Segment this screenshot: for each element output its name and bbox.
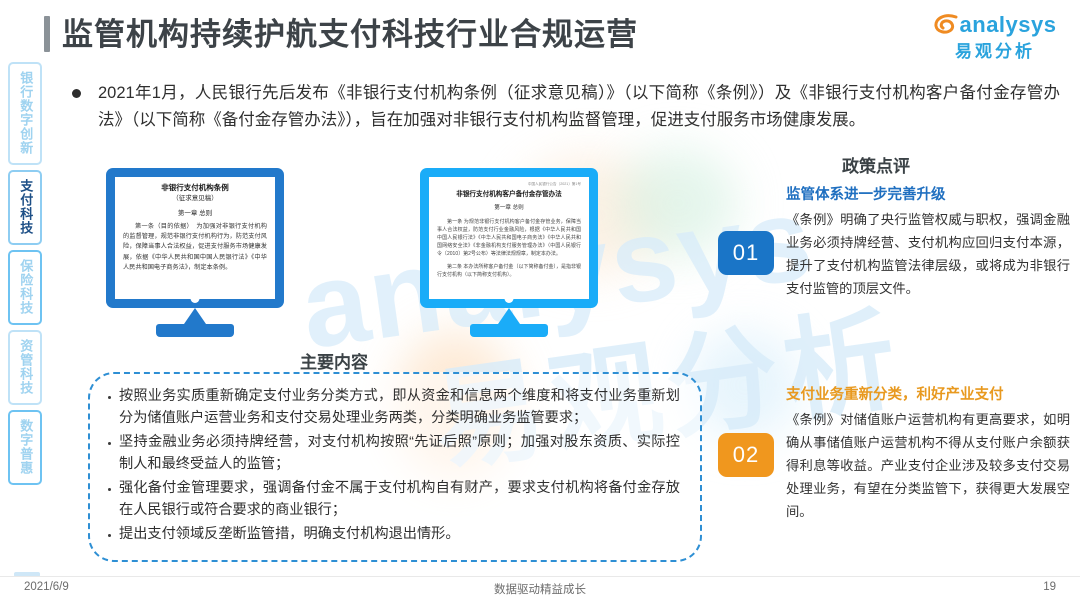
monitor-indicator-dot (505, 294, 514, 303)
monitor-screen: 非银行支付机构条例 （征求意见稿） 第一章 总则 第一条（目的依据） 为加强对非… (115, 177, 275, 299)
sidebar-item-label: 保险科技 (18, 259, 33, 315)
footer-slogan: 数据驱动精益成长 (0, 581, 1080, 597)
list-item: 按照业务实质重新确定支付业务分类方式，即从资金和信息两个维度和将支付业务重新划分… (108, 385, 680, 430)
sidebar-item-bank-digital-innovation[interactable]: 银行数字创新 (8, 62, 42, 165)
bullet-dot-icon (72, 89, 81, 98)
sidebar-item-label: 银行数字创新 (18, 71, 33, 155)
footer-page-number: 19 (1043, 581, 1056, 593)
sidebar-item-label: 资管科技 (18, 339, 33, 395)
monitor-custody-rules: 中国人民银行公告〔2021〕第1号 非银行支付机构客户备付金存管办法 第一章 总… (420, 168, 598, 337)
list-bullet-icon (108, 534, 111, 537)
monitor-base (470, 324, 548, 337)
list-item-text: 强化备付金管理要求，强调备付金不属于支付机构自有财产，要求支付机构将备付金存放在… (119, 477, 680, 522)
page-title: 监管机构持续护航支付科技行业合规运营 (44, 16, 638, 52)
list-item: 坚持金融业务必须持牌经营，对支付机构按照“先证后照”原则；加强对股东资质、实际控… (108, 431, 680, 476)
doc-title: 非银行支付机构条例 (123, 183, 267, 194)
monitor-regulation-draft: 非银行支付机构条例 （征求意见稿） 第一章 总则 第一条（目的依据） 为加强对非… (106, 168, 284, 337)
intro-bullet: 2021年1月，人民银行先后发布《非银行支付机构条例（征求意见稿）》（以下简称《… (72, 80, 1064, 133)
status-badge: 02 (718, 433, 774, 477)
monitor-neck (106, 308, 284, 324)
doc-body: 第一条（目的依据） 为加强对非银行支付机构的监督管理，规范非银行支付机构行为，防… (123, 222, 267, 272)
doc-title: 非银行支付机构客户备付金存管办法 (437, 190, 581, 200)
list-bullet-icon (108, 396, 111, 399)
commentary-paragraph: 《条例》对储值账户运营机构有更高要求，如明确从事储值账户运营机构不得从支付账户余… (786, 409, 1070, 523)
slide-root: analysys 易观分析 analysys 易观分析 监管机构持续护航支付科技… (0, 0, 1080, 608)
sidebar-item-asset-management-tech[interactable]: 资管科技 (8, 330, 42, 405)
commentary-paragraph: 《条例》明确了央行监管权威与职权，强调金融业务必须持牌经营、支付机构应回归支付本… (786, 209, 1070, 300)
commentary-heading: 监管体系进一步完善升级 (786, 185, 1070, 205)
list-item-text: 坚持金融业务必须持牌经营，对支付机构按照“先证后照”原则；加强对股东资质、实际控… (119, 431, 680, 476)
monitor-neck (420, 308, 598, 324)
sidebar-item-payment-tech[interactable]: 支付科技 (8, 170, 42, 245)
footer-date: 2021/6/9 (24, 581, 69, 593)
sidebar-item-digital-inclusive-finance[interactable]: 数字普惠 (8, 410, 42, 485)
doc-stamp: 中国人民银行公告〔2021〕第1号 (437, 183, 581, 187)
logo-wordmark: analysys (960, 14, 1057, 36)
sidebar-item-label: 支付科技 (18, 179, 33, 235)
monitor-frame: 非银行支付机构条例 （征求意见稿） 第一章 总则 第一条（目的依据） 为加强对非… (106, 168, 284, 308)
list-item: 强化备付金管理要求，强调备付金不属于支付机构自有财产，要求支付机构将备付金存放在… (108, 477, 680, 522)
commentary-heading: 支付业务重新分类，利好产业支付 (786, 385, 1070, 405)
commentary-label: 政策点评 (842, 152, 910, 177)
status-badge: 01 (718, 231, 774, 275)
doc-chapter: 第一章 总则 (123, 209, 267, 219)
list-bullet-icon (108, 488, 111, 491)
monitor-base (156, 324, 234, 337)
analysys-logo: analysys 易观分析 (930, 10, 1060, 66)
title-text: 监管机构持续护航支付科技行业合规运营 (62, 19, 638, 50)
commentary-block-01: 01 监管体系进一步完善升级 《条例》明确了央行监管权威与职权，强调金融业务必须… (718, 185, 1070, 301)
footer-divider (0, 576, 1080, 577)
doc-body: 第一条 为规范非银行支付机构客户备付金存管业务，保障当事人合法权益，防范支付行业… (437, 218, 581, 258)
list-item-text: 提出支付领域反垄断监管措，明确支付机构退出情形。 (119, 523, 680, 545)
monitor-indicator-dot (191, 294, 200, 303)
intro-bullet-text: 2021年1月，人民银行先后发布《非银行支付机构条例（征求意见稿）》（以下简称《… (98, 80, 1060, 133)
list-bullet-icon (108, 442, 111, 445)
commentary-block-02: 02 支付业务重新分类，利好产业支付 《条例》对储值账户运营机构有更高要求，如明… (718, 385, 1070, 524)
monitor-frame: 中国人民银行公告〔2021〕第1号 非银行支付机构客户备付金存管办法 第一章 总… (420, 168, 598, 308)
sidebar-item-insurance-tech[interactable]: 保险科技 (8, 250, 42, 325)
doc-body-secondary: 第二条 本办法所称客户备付金（以下简称备付金），是指非银行支付机构（以下简称支付… (437, 263, 581, 279)
logo-swoosh-icon (934, 13, 960, 37)
main-content-label: 主要内容 (300, 348, 368, 373)
list-item-text: 按照业务实质重新确定支付业务分类方式，即从资金和信息两个维度和将支付业务重新划分… (119, 385, 680, 430)
list-item: 提出支付领域反垄断监管措，明确支付机构退出情形。 (108, 523, 680, 545)
doc-chapter: 第一章 总则 (437, 204, 581, 212)
commentary-body: 监管体系进一步完善升级 《条例》明确了央行监管权威与职权，强调金融业务必须持牌经… (786, 185, 1070, 301)
main-content-box: 按照业务实质重新确定支付业务分类方式，即从资金和信息两个维度和将支付业务重新划分… (88, 372, 702, 562)
doc-subtitle: （征求意见稿） (123, 194, 267, 204)
title-accent-bar (44, 16, 50, 52)
sidebar-tabs: 银行数字创新 支付科技 保险科技 资管科技 数字普惠 (8, 62, 42, 490)
sidebar-item-label: 数字普惠 (18, 419, 33, 475)
commentary-body: 支付业务重新分类，利好产业支付 《条例》对储值账户运营机构有更高要求，如明确从事… (786, 385, 1070, 524)
logo-chinese: 易观分析 (930, 43, 1060, 60)
monitor-screen: 中国人民银行公告〔2021〕第1号 非银行支付机构客户备付金存管办法 第一章 总… (429, 177, 589, 299)
